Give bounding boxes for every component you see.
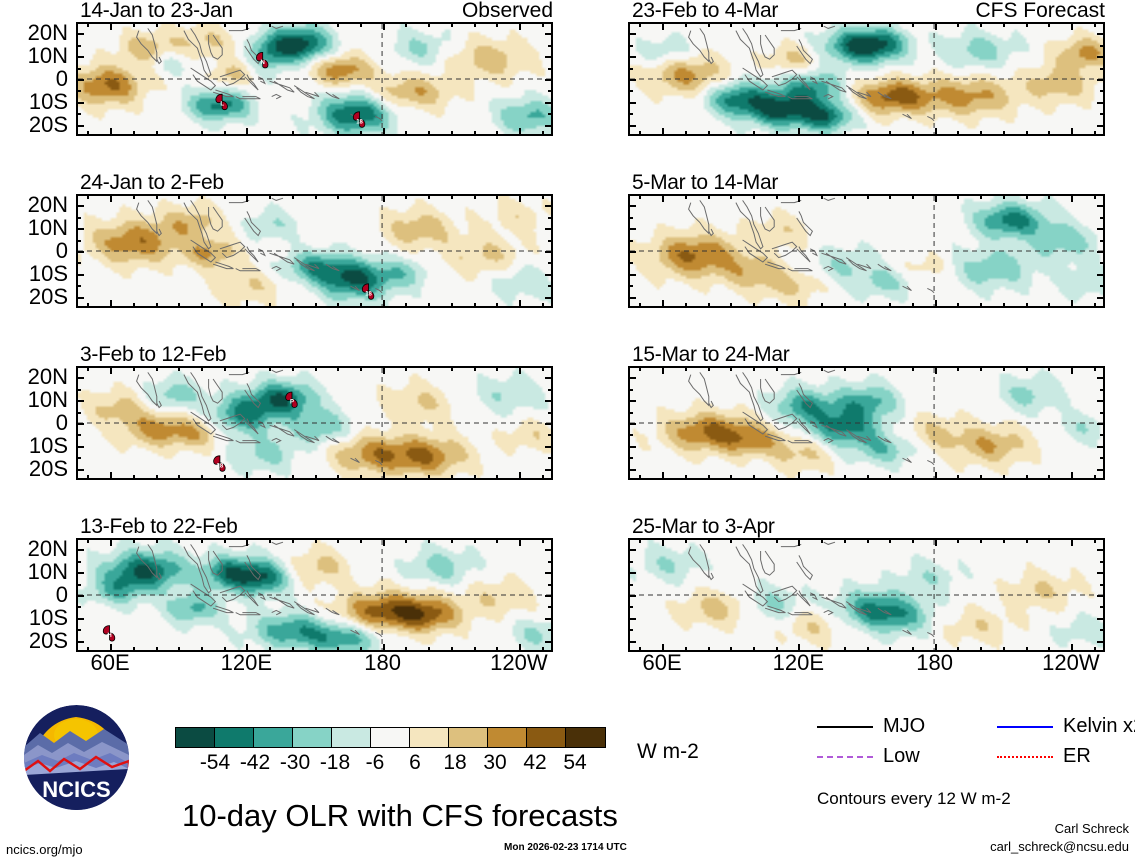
x-tick xyxy=(912,131,914,136)
x-tick xyxy=(1071,472,1073,480)
x-tick xyxy=(753,194,755,199)
y-tick xyxy=(76,469,84,471)
y-tick xyxy=(545,33,553,35)
y-tick xyxy=(1097,641,1105,643)
x-tick xyxy=(383,644,385,652)
x-tick xyxy=(315,131,317,136)
tropical-cyclone-marker: 18 xyxy=(214,456,226,472)
coastline xyxy=(245,555,261,579)
coastline xyxy=(878,92,892,99)
coastline xyxy=(743,412,768,434)
coastline xyxy=(326,608,340,615)
y-tick xyxy=(1097,228,1105,230)
y-tick xyxy=(76,285,81,287)
x-tick xyxy=(935,366,937,374)
x-tick xyxy=(474,22,476,27)
x-tick xyxy=(496,647,498,652)
coastline xyxy=(272,542,283,544)
x-tick xyxy=(360,22,362,27)
x-axis-label: 60E xyxy=(80,652,140,674)
coastline xyxy=(824,266,833,270)
y-axis-label: 10S xyxy=(0,263,68,285)
x-tick xyxy=(542,366,544,371)
y-tick xyxy=(545,102,553,104)
author-name: Carl Schreck xyxy=(1055,822,1129,836)
y-axis-label: 0 xyxy=(0,68,68,90)
y-tick xyxy=(628,561,633,563)
x-tick xyxy=(178,538,180,543)
coastline xyxy=(191,584,216,606)
y-tick xyxy=(76,240,81,242)
coastline xyxy=(689,200,709,233)
x-tick xyxy=(957,131,959,136)
x-tick xyxy=(269,538,271,543)
y-tick xyxy=(548,45,553,47)
coastline xyxy=(772,70,797,85)
x-tick xyxy=(821,194,823,199)
x-tick xyxy=(246,644,248,652)
coastline xyxy=(709,401,714,408)
coastline xyxy=(213,90,233,97)
y-tick xyxy=(1097,400,1105,402)
x-tick xyxy=(1026,538,1028,543)
y-tick xyxy=(548,113,553,115)
x-tick xyxy=(776,22,778,27)
x-tick xyxy=(821,22,823,27)
x-tick xyxy=(315,366,317,371)
x-tick xyxy=(708,538,710,543)
y-tick xyxy=(548,606,553,608)
x-tick xyxy=(474,647,476,652)
x-axis-label: 180 xyxy=(353,652,413,674)
x-tick xyxy=(821,647,823,652)
x-tick xyxy=(730,647,732,652)
coastline xyxy=(797,247,811,262)
x-tick xyxy=(178,194,180,199)
coastline xyxy=(351,458,360,462)
coastline xyxy=(209,35,223,59)
y-tick xyxy=(628,423,636,425)
coastline xyxy=(191,68,216,90)
x-tick xyxy=(844,22,846,27)
coastline xyxy=(903,458,912,462)
coastline xyxy=(294,86,314,99)
y-tick xyxy=(76,102,84,104)
coastline xyxy=(765,262,785,269)
y-tick xyxy=(628,33,636,35)
y-tick xyxy=(545,251,553,253)
x-tick xyxy=(798,366,800,374)
x-tick xyxy=(980,647,982,652)
x-tick xyxy=(269,475,271,480)
x-tick xyxy=(730,366,732,371)
x-tick xyxy=(844,131,846,136)
x-tick xyxy=(405,647,407,652)
x-tick xyxy=(708,194,710,199)
coastline xyxy=(824,542,835,544)
x-tick xyxy=(867,366,869,371)
coastline xyxy=(765,90,785,97)
coastline xyxy=(272,94,281,98)
y-tick xyxy=(545,79,553,81)
y-tick xyxy=(545,572,553,574)
x-tick xyxy=(935,22,937,30)
x-tick xyxy=(156,538,158,543)
x-tick xyxy=(1026,131,1028,136)
y-tick xyxy=(628,285,633,287)
x-tick xyxy=(821,475,823,480)
x-tick xyxy=(935,194,937,202)
coastline xyxy=(736,200,763,248)
coastline xyxy=(245,419,259,434)
y-tick xyxy=(628,113,633,115)
y-tick xyxy=(1097,377,1105,379)
coastline xyxy=(824,26,835,28)
colorbar-swatch xyxy=(449,728,488,747)
x-tick xyxy=(685,366,687,371)
cyclone-label: 18 xyxy=(217,463,224,469)
panel-date-range: 3-Feb to 12-Feb xyxy=(80,344,226,365)
x-tick xyxy=(428,366,430,371)
x-tick xyxy=(337,194,339,199)
y-tick xyxy=(628,606,633,608)
coastline xyxy=(743,584,768,606)
ncics-logo: NCICS xyxy=(24,705,129,810)
y-tick xyxy=(628,240,633,242)
x-tick xyxy=(496,475,498,480)
y-tick xyxy=(1097,33,1105,35)
x-tick xyxy=(405,194,407,199)
tropical-cyclone-marker: H xyxy=(103,626,115,642)
y-tick xyxy=(548,90,553,92)
x-tick xyxy=(519,300,521,308)
y-tick xyxy=(1100,240,1105,242)
coastline xyxy=(245,247,259,262)
x-tick xyxy=(201,647,203,652)
colorbar-units: W m-2 xyxy=(637,741,699,762)
x-tick xyxy=(87,194,89,199)
map-overlay xyxy=(630,368,1103,478)
x-tick xyxy=(405,303,407,308)
x-axis-label: 120W xyxy=(1041,652,1101,674)
x-tick xyxy=(542,475,544,480)
map-area: H xyxy=(76,538,553,652)
x-tick xyxy=(957,538,959,543)
timestamp: Mon 2026-02-23 1714 UTC xyxy=(504,843,627,853)
coastline xyxy=(797,591,811,606)
coastline xyxy=(846,258,866,271)
x-tick xyxy=(178,647,180,652)
coastline xyxy=(927,116,934,120)
x-tick xyxy=(383,472,385,480)
x-tick xyxy=(542,194,544,199)
x-tick xyxy=(201,194,203,199)
x-tick xyxy=(519,128,521,136)
y-tick xyxy=(1100,629,1105,631)
coastline xyxy=(272,438,281,442)
y-tick xyxy=(628,412,633,414)
y-tick xyxy=(1097,572,1105,574)
author-email[interactable]: carl_schreck@ncsu.edu xyxy=(990,840,1129,854)
colorbar-swatch xyxy=(527,728,566,747)
coastline xyxy=(927,460,934,464)
y-tick xyxy=(548,412,553,414)
x-tick xyxy=(201,366,203,371)
site-url[interactable]: ncics.org/mjo xyxy=(6,843,83,856)
x-tick xyxy=(639,303,641,308)
x-tick xyxy=(980,475,982,480)
coastline xyxy=(213,606,233,613)
coastline xyxy=(137,372,157,405)
coastline xyxy=(797,555,813,579)
x-tick xyxy=(1071,128,1073,136)
x-tick xyxy=(133,647,135,652)
coastline xyxy=(326,436,340,443)
x-tick xyxy=(405,22,407,27)
coastline xyxy=(824,438,833,442)
y-axis-label: 20N xyxy=(0,366,68,388)
coastline xyxy=(689,28,709,61)
y-tick xyxy=(628,549,636,551)
coastline xyxy=(270,425,295,436)
x-tick xyxy=(1003,131,1005,136)
x-tick xyxy=(178,22,180,27)
y-tick xyxy=(628,595,636,597)
y-tick xyxy=(1100,68,1105,70)
y-tick xyxy=(76,595,84,597)
coastline xyxy=(245,383,261,407)
map-area xyxy=(628,22,1105,136)
x-tick xyxy=(935,128,937,136)
y-tick xyxy=(76,549,84,551)
x-tick xyxy=(867,538,869,543)
x-tick xyxy=(685,131,687,136)
x-tick xyxy=(383,538,385,546)
y-tick xyxy=(76,423,84,425)
x-tick xyxy=(315,22,317,27)
x-tick xyxy=(133,194,135,199)
coastline xyxy=(236,269,261,271)
coastline xyxy=(294,258,314,271)
y-axis-label: 20S xyxy=(0,114,68,136)
x-tick xyxy=(776,303,778,308)
y-tick xyxy=(545,400,553,402)
x-tick xyxy=(542,538,544,543)
x-tick xyxy=(912,194,914,199)
x-tick xyxy=(383,300,385,308)
x-tick xyxy=(1003,647,1005,652)
x-tick xyxy=(519,194,521,202)
x-tick xyxy=(935,300,937,308)
x-tick xyxy=(269,131,271,136)
x-tick xyxy=(1003,538,1005,543)
map-overlay xyxy=(630,24,1103,134)
x-tick xyxy=(496,194,498,199)
y-tick xyxy=(628,68,633,70)
x-tick xyxy=(224,647,226,652)
x-tick xyxy=(776,131,778,136)
y-tick xyxy=(628,572,636,574)
cyclone-label: H xyxy=(107,633,111,639)
x-tick xyxy=(337,475,339,480)
y-tick xyxy=(545,228,553,230)
coastline xyxy=(209,551,223,575)
x-tick xyxy=(542,131,544,136)
x-tick xyxy=(292,22,294,27)
y-tick xyxy=(1097,205,1105,207)
x-tick xyxy=(776,475,778,480)
y-tick xyxy=(1097,297,1105,299)
x-tick xyxy=(1003,475,1005,480)
coastline xyxy=(736,28,763,76)
coastline xyxy=(258,249,265,256)
y-tick xyxy=(545,274,553,276)
coastline xyxy=(788,97,813,99)
coastline xyxy=(236,613,261,615)
x-tick xyxy=(798,472,800,480)
y-tick xyxy=(545,469,553,471)
x-tick xyxy=(269,303,271,308)
coastline xyxy=(878,264,892,271)
y-tick xyxy=(1100,389,1105,391)
y-tick xyxy=(545,641,553,643)
y-tick xyxy=(628,457,633,459)
y-tick xyxy=(1097,595,1105,597)
x-tick xyxy=(178,131,180,136)
x-tick xyxy=(156,22,158,27)
y-tick xyxy=(1097,79,1105,81)
y-tick xyxy=(76,217,81,219)
x-tick xyxy=(844,194,846,199)
y-tick xyxy=(76,389,81,391)
y-tick xyxy=(545,205,553,207)
x-tick xyxy=(957,366,959,371)
coastline xyxy=(272,370,283,372)
map-area xyxy=(628,194,1105,308)
y-tick xyxy=(548,434,553,436)
x-tick xyxy=(867,131,869,136)
y-tick xyxy=(1100,561,1105,563)
x-tick xyxy=(685,194,687,199)
x-tick xyxy=(110,644,112,652)
y-tick xyxy=(76,377,84,379)
x-tick xyxy=(867,194,869,199)
x-tick xyxy=(428,22,430,27)
y-tick xyxy=(1100,434,1105,436)
coastline xyxy=(797,39,813,63)
x-tick xyxy=(315,538,317,543)
coastline xyxy=(772,586,797,601)
y-axis-label: 10N xyxy=(0,217,68,239)
x-tick xyxy=(337,366,339,371)
coastline xyxy=(797,383,813,407)
x-tick xyxy=(496,538,498,543)
coastline xyxy=(772,242,797,257)
y-tick xyxy=(545,377,553,379)
x-tick xyxy=(1071,644,1073,652)
x-tick xyxy=(821,131,823,136)
y-tick xyxy=(628,79,636,81)
x-tick xyxy=(110,366,112,374)
x-axis-label: 180 xyxy=(905,652,965,674)
coastline xyxy=(137,200,157,233)
x-tick xyxy=(1048,22,1050,27)
x-tick xyxy=(110,194,112,202)
x-tick xyxy=(337,22,339,27)
x-tick xyxy=(753,22,755,27)
legend-label: Kelvin x2 xyxy=(1063,716,1135,736)
y-tick xyxy=(545,446,553,448)
x-tick xyxy=(337,303,339,308)
x-tick xyxy=(776,538,778,543)
y-tick xyxy=(1100,113,1105,115)
x-tick xyxy=(428,538,430,543)
y-tick xyxy=(545,595,553,597)
x-tick xyxy=(1094,647,1096,652)
y-tick xyxy=(628,469,636,471)
x-tick xyxy=(753,303,755,308)
y-tick xyxy=(548,584,553,586)
y-tick xyxy=(545,423,553,425)
x-tick xyxy=(730,538,732,543)
y-axis-label: 10N xyxy=(0,45,68,67)
x-tick xyxy=(246,22,248,30)
y-tick xyxy=(76,561,81,563)
x-tick xyxy=(844,366,846,371)
coastline xyxy=(709,229,714,236)
x-tick xyxy=(1003,194,1005,199)
x-tick xyxy=(496,303,498,308)
x-tick xyxy=(639,22,641,27)
x-tick xyxy=(292,366,294,371)
x-tick xyxy=(224,366,226,371)
x-tick xyxy=(957,22,959,27)
x-tick xyxy=(889,647,891,652)
x-tick xyxy=(685,303,687,308)
cyclone-label: P xyxy=(290,400,294,406)
y-tick xyxy=(548,629,553,631)
x-tick xyxy=(428,647,430,652)
coastline xyxy=(772,414,797,429)
y-tick xyxy=(1097,56,1105,58)
x-tick xyxy=(292,538,294,543)
x-tick xyxy=(315,303,317,308)
y-tick xyxy=(628,90,633,92)
x-tick xyxy=(685,475,687,480)
y-tick xyxy=(76,262,81,264)
coastline xyxy=(824,610,833,614)
coastline xyxy=(736,544,763,592)
x-tick xyxy=(269,647,271,652)
x-tick xyxy=(269,366,271,371)
x-tick xyxy=(821,303,823,308)
panel-date-range: 13-Feb to 22-Feb xyxy=(80,516,237,537)
x-tick xyxy=(360,131,362,136)
x-tick xyxy=(110,300,112,308)
x-tick xyxy=(798,128,800,136)
coastline xyxy=(810,249,817,256)
x-tick xyxy=(1026,303,1028,308)
x-tick xyxy=(474,131,476,136)
y-axis-label: 0 xyxy=(0,584,68,606)
panel-date-range: 23-Feb to 4-Mar xyxy=(632,0,778,21)
x-tick xyxy=(685,538,687,543)
y-tick xyxy=(76,606,81,608)
x-tick xyxy=(269,22,271,27)
x-tick xyxy=(360,366,362,371)
coastline xyxy=(137,28,157,61)
x-tick xyxy=(639,538,641,543)
